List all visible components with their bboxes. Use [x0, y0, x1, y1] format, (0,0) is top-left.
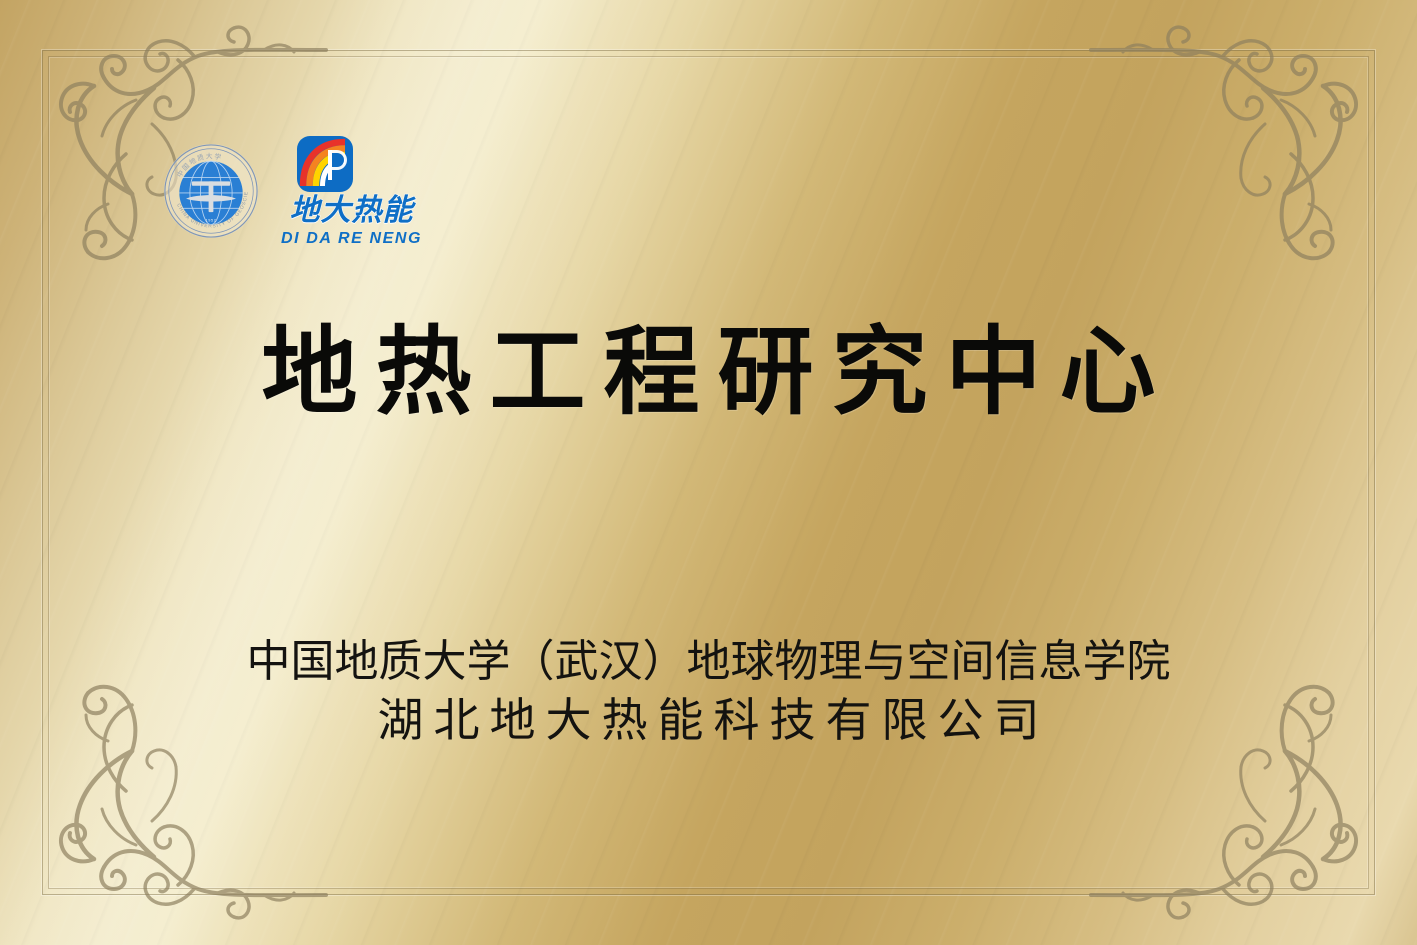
brand-name-en: DI DA RE NENG — [281, 231, 422, 247]
subtitle-block: 中国地质大学（武汉）地球物理与空间信息学院 湖北地大热能科技有限公司 — [0, 636, 1417, 749]
filigree-corner-top-right-icon — [1089, 4, 1409, 264]
page-title: 地热工程研究中心 — [0, 322, 1417, 423]
university-seal-icon: CHINA UNIVERSITY OF GEOSCIENCES 中国地质大学 1… — [163, 143, 259, 239]
subtitle-line-2: 湖北地大热能科技有限公司 — [0, 692, 1417, 750]
logo-group: CHINA UNIVERSITY OF GEOSCIENCES 中国地质大学 1… — [163, 134, 422, 247]
company-brand: 地大热能 DI DA RE NENG — [281, 134, 422, 247]
brand-name-cn: 地大热能 — [290, 196, 414, 226]
svg-text:1952: 1952 — [206, 218, 217, 222]
subtitle-line-1: 中国地质大学（武汉）地球物理与空间信息学院 — [0, 636, 1417, 688]
award-plaque: CHINA UNIVERSITY OF GEOSCIENCES 中国地质大学 1… — [0, 0, 1417, 945]
didareneng-mark-icon — [295, 134, 355, 194]
